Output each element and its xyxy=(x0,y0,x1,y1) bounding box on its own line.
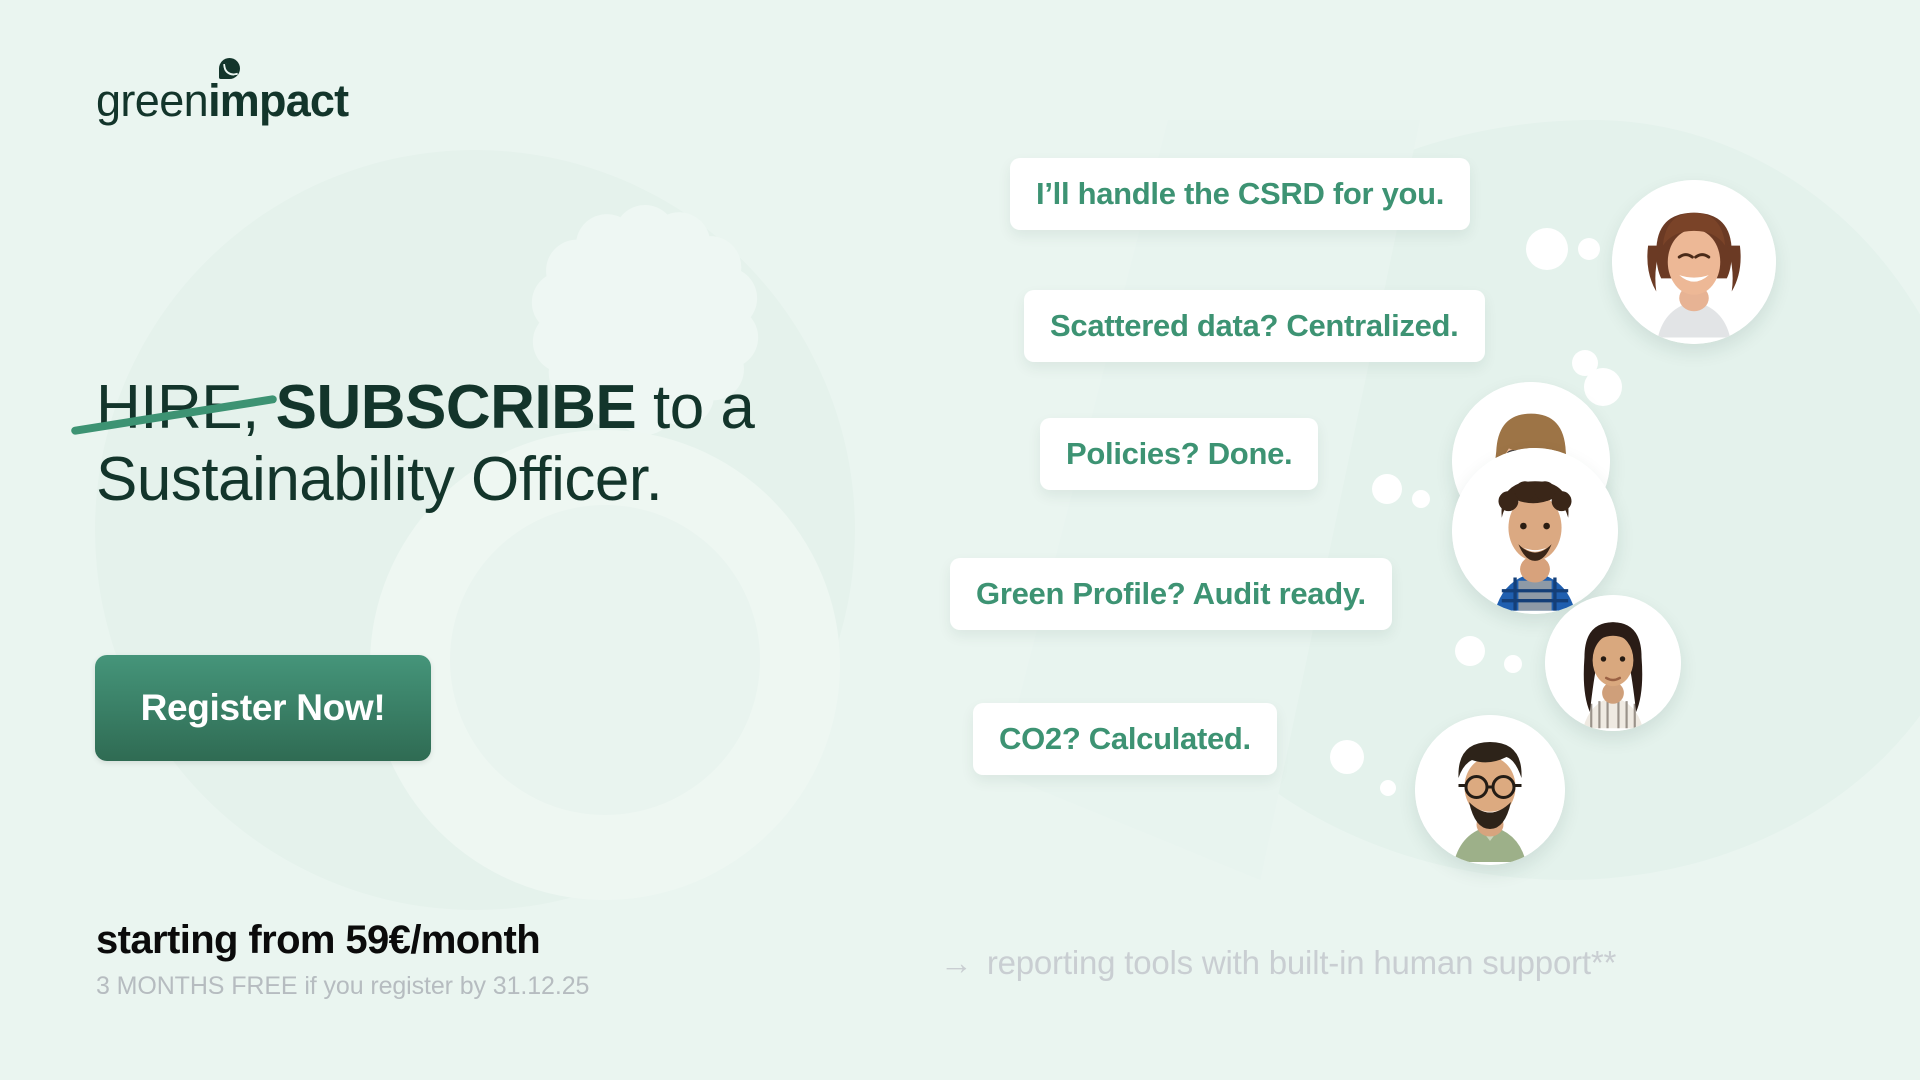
decorative-dot xyxy=(1578,238,1600,260)
register-now-button[interactable]: Register Now! xyxy=(95,655,431,761)
avatar-man-curly-hair-plaid xyxy=(1452,448,1618,614)
avatar-woman-dark-hair-striped-shirt xyxy=(1545,595,1681,731)
leaf-icon xyxy=(219,58,240,79)
headline-bold-word: SUBSCRIBE xyxy=(276,373,637,442)
feature-bubble-green-profile: Green Profile? Audit ready. xyxy=(950,558,1392,630)
decorative-dot xyxy=(1504,655,1522,673)
footer-note: →reporting tools with built-in human sup… xyxy=(940,944,1616,982)
price-promo-note: 3 MONTHS FREE if you register by 31.12.2… xyxy=(96,972,589,1001)
background-target-inner-ring xyxy=(450,505,760,815)
decorative-dot xyxy=(1526,228,1568,270)
feature-bubble-policies: Policies? Done. xyxy=(1040,418,1318,490)
headline-line-two: Sustainability Officer. xyxy=(96,445,662,514)
footer-note-label: reporting tools with built-in human supp… xyxy=(987,944,1616,981)
feature-bubble-co2: CO2? Calculated. xyxy=(973,703,1277,775)
logo-text-green: green xyxy=(96,78,208,123)
arrow-right-icon: → xyxy=(940,944,973,981)
price-label: starting from 59€/month xyxy=(96,918,540,963)
feature-bubble-data: Scattered data? Centralized. xyxy=(1024,290,1485,362)
decorative-dot xyxy=(1572,350,1598,376)
brand-logo[interactable]: green impact xyxy=(96,78,348,123)
logo-text-impact: impact xyxy=(208,78,348,123)
feature-bubble-csrd: I’ll handle the CSRD for you. xyxy=(1010,158,1470,230)
avatar-man-glasses-beard-green-shirt xyxy=(1415,715,1565,865)
decorative-dot xyxy=(1412,490,1430,508)
background-circle-left xyxy=(95,150,855,910)
decorative-dot xyxy=(1380,780,1396,796)
decorative-dot xyxy=(1584,368,1622,406)
decorative-dot xyxy=(1372,474,1402,504)
page-title: HIRE, SUBSCRIBE to a Sustainability Offi… xyxy=(96,372,916,516)
logo-impact-label: impact xyxy=(208,75,348,126)
decorative-dot xyxy=(1455,636,1485,666)
avatar-woman-short-brown-hair xyxy=(1612,180,1776,344)
headline-rest: to a xyxy=(636,373,754,442)
hero-banner: green impact HIRE, SUBSCRIBE to a Sustai… xyxy=(0,0,1920,1080)
decorative-dot xyxy=(1330,740,1364,774)
headline-struck-word: HIRE, xyxy=(96,373,276,442)
